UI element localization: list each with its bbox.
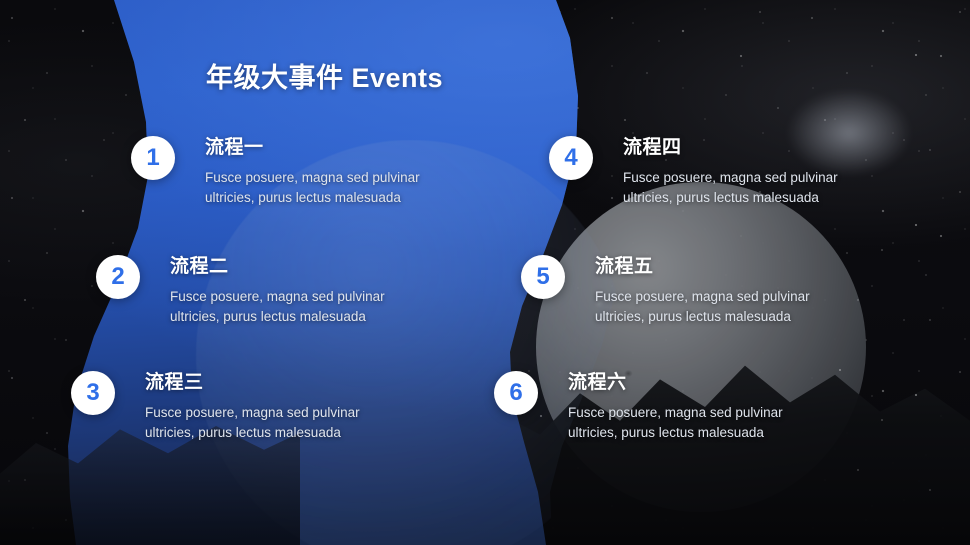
list-item-body: 流程六 Fusce posuere, magna sed pulvinar ul… (568, 367, 783, 442)
list-item-body: 流程四 Fusce posuere, magna sed pulvinar ul… (623, 132, 838, 207)
list-item-title: 流程三 (145, 367, 360, 394)
step-number: 1 (146, 146, 159, 170)
step-number: 4 (564, 146, 577, 170)
list-item-title: 流程四 (623, 132, 838, 159)
desc-line: Fusce posuere, magna sed pulvinar (170, 287, 385, 307)
desc-line: ultricies, purus lectus malesuada (145, 423, 360, 443)
list-item-title: 流程一 (205, 132, 420, 159)
desc-line: ultricies, purus lectus malesuada (568, 423, 783, 443)
desc-line: Fusce posuere, magna sed pulvinar (623, 168, 838, 188)
list-item-description: Fusce posuere, magna sed pulvinar ultric… (568, 403, 783, 442)
desc-line: Fusce posuere, magna sed pulvinar (568, 403, 783, 423)
step-number: 5 (536, 265, 549, 289)
list-item-description: Fusce posuere, magna sed pulvinar ultric… (595, 287, 810, 326)
step-number: 6 (509, 381, 522, 405)
step-number-badge: 2 (96, 255, 140, 299)
list-item-title: 流程六 (568, 367, 783, 394)
slide-canvas: 年级大事件 Events 1 流程一 Fusce posuere, magna … (0, 0, 970, 545)
desc-line: ultricies, purus lectus malesuada (205, 188, 420, 208)
list-item-description: Fusce posuere, magna sed pulvinar ultric… (623, 168, 838, 207)
step-number-badge: 1 (131, 136, 175, 180)
desc-line: Fusce posuere, magna sed pulvinar (145, 403, 360, 423)
step-number-badge: 6 (494, 371, 538, 415)
desc-line: ultricies, purus lectus malesuada (623, 188, 838, 208)
step-number-badge: 3 (71, 371, 115, 415)
list-item-description: Fusce posuere, magna sed pulvinar ultric… (145, 403, 360, 442)
list-item-body: 流程一 Fusce posuere, magna sed pulvinar ul… (205, 132, 420, 207)
slide-content: 年级大事件 Events 1 流程一 Fusce posuere, magna … (0, 0, 970, 545)
list-item-body: 流程二 Fusce posuere, magna sed pulvinar ul… (170, 251, 385, 326)
list-item-description: Fusce posuere, magna sed pulvinar ultric… (170, 287, 385, 326)
step-number: 3 (86, 381, 99, 405)
list-item-title: 流程五 (595, 251, 810, 278)
desc-line: ultricies, purus lectus malesuada (170, 307, 385, 327)
list-item-body: 流程三 Fusce posuere, magna sed pulvinar ul… (145, 367, 360, 442)
desc-line: ultricies, purus lectus malesuada (595, 307, 810, 327)
list-item-description: Fusce posuere, magna sed pulvinar ultric… (205, 168, 420, 207)
step-number-badge: 5 (521, 255, 565, 299)
list-item-title: 流程二 (170, 251, 385, 278)
desc-line: Fusce posuere, magna sed pulvinar (595, 287, 810, 307)
step-number-badge: 4 (549, 136, 593, 180)
desc-line: Fusce posuere, magna sed pulvinar (205, 168, 420, 188)
step-number: 2 (111, 265, 124, 289)
page-title: 年级大事件 Events (206, 56, 443, 95)
list-item-body: 流程五 Fusce posuere, magna sed pulvinar ul… (595, 251, 810, 326)
